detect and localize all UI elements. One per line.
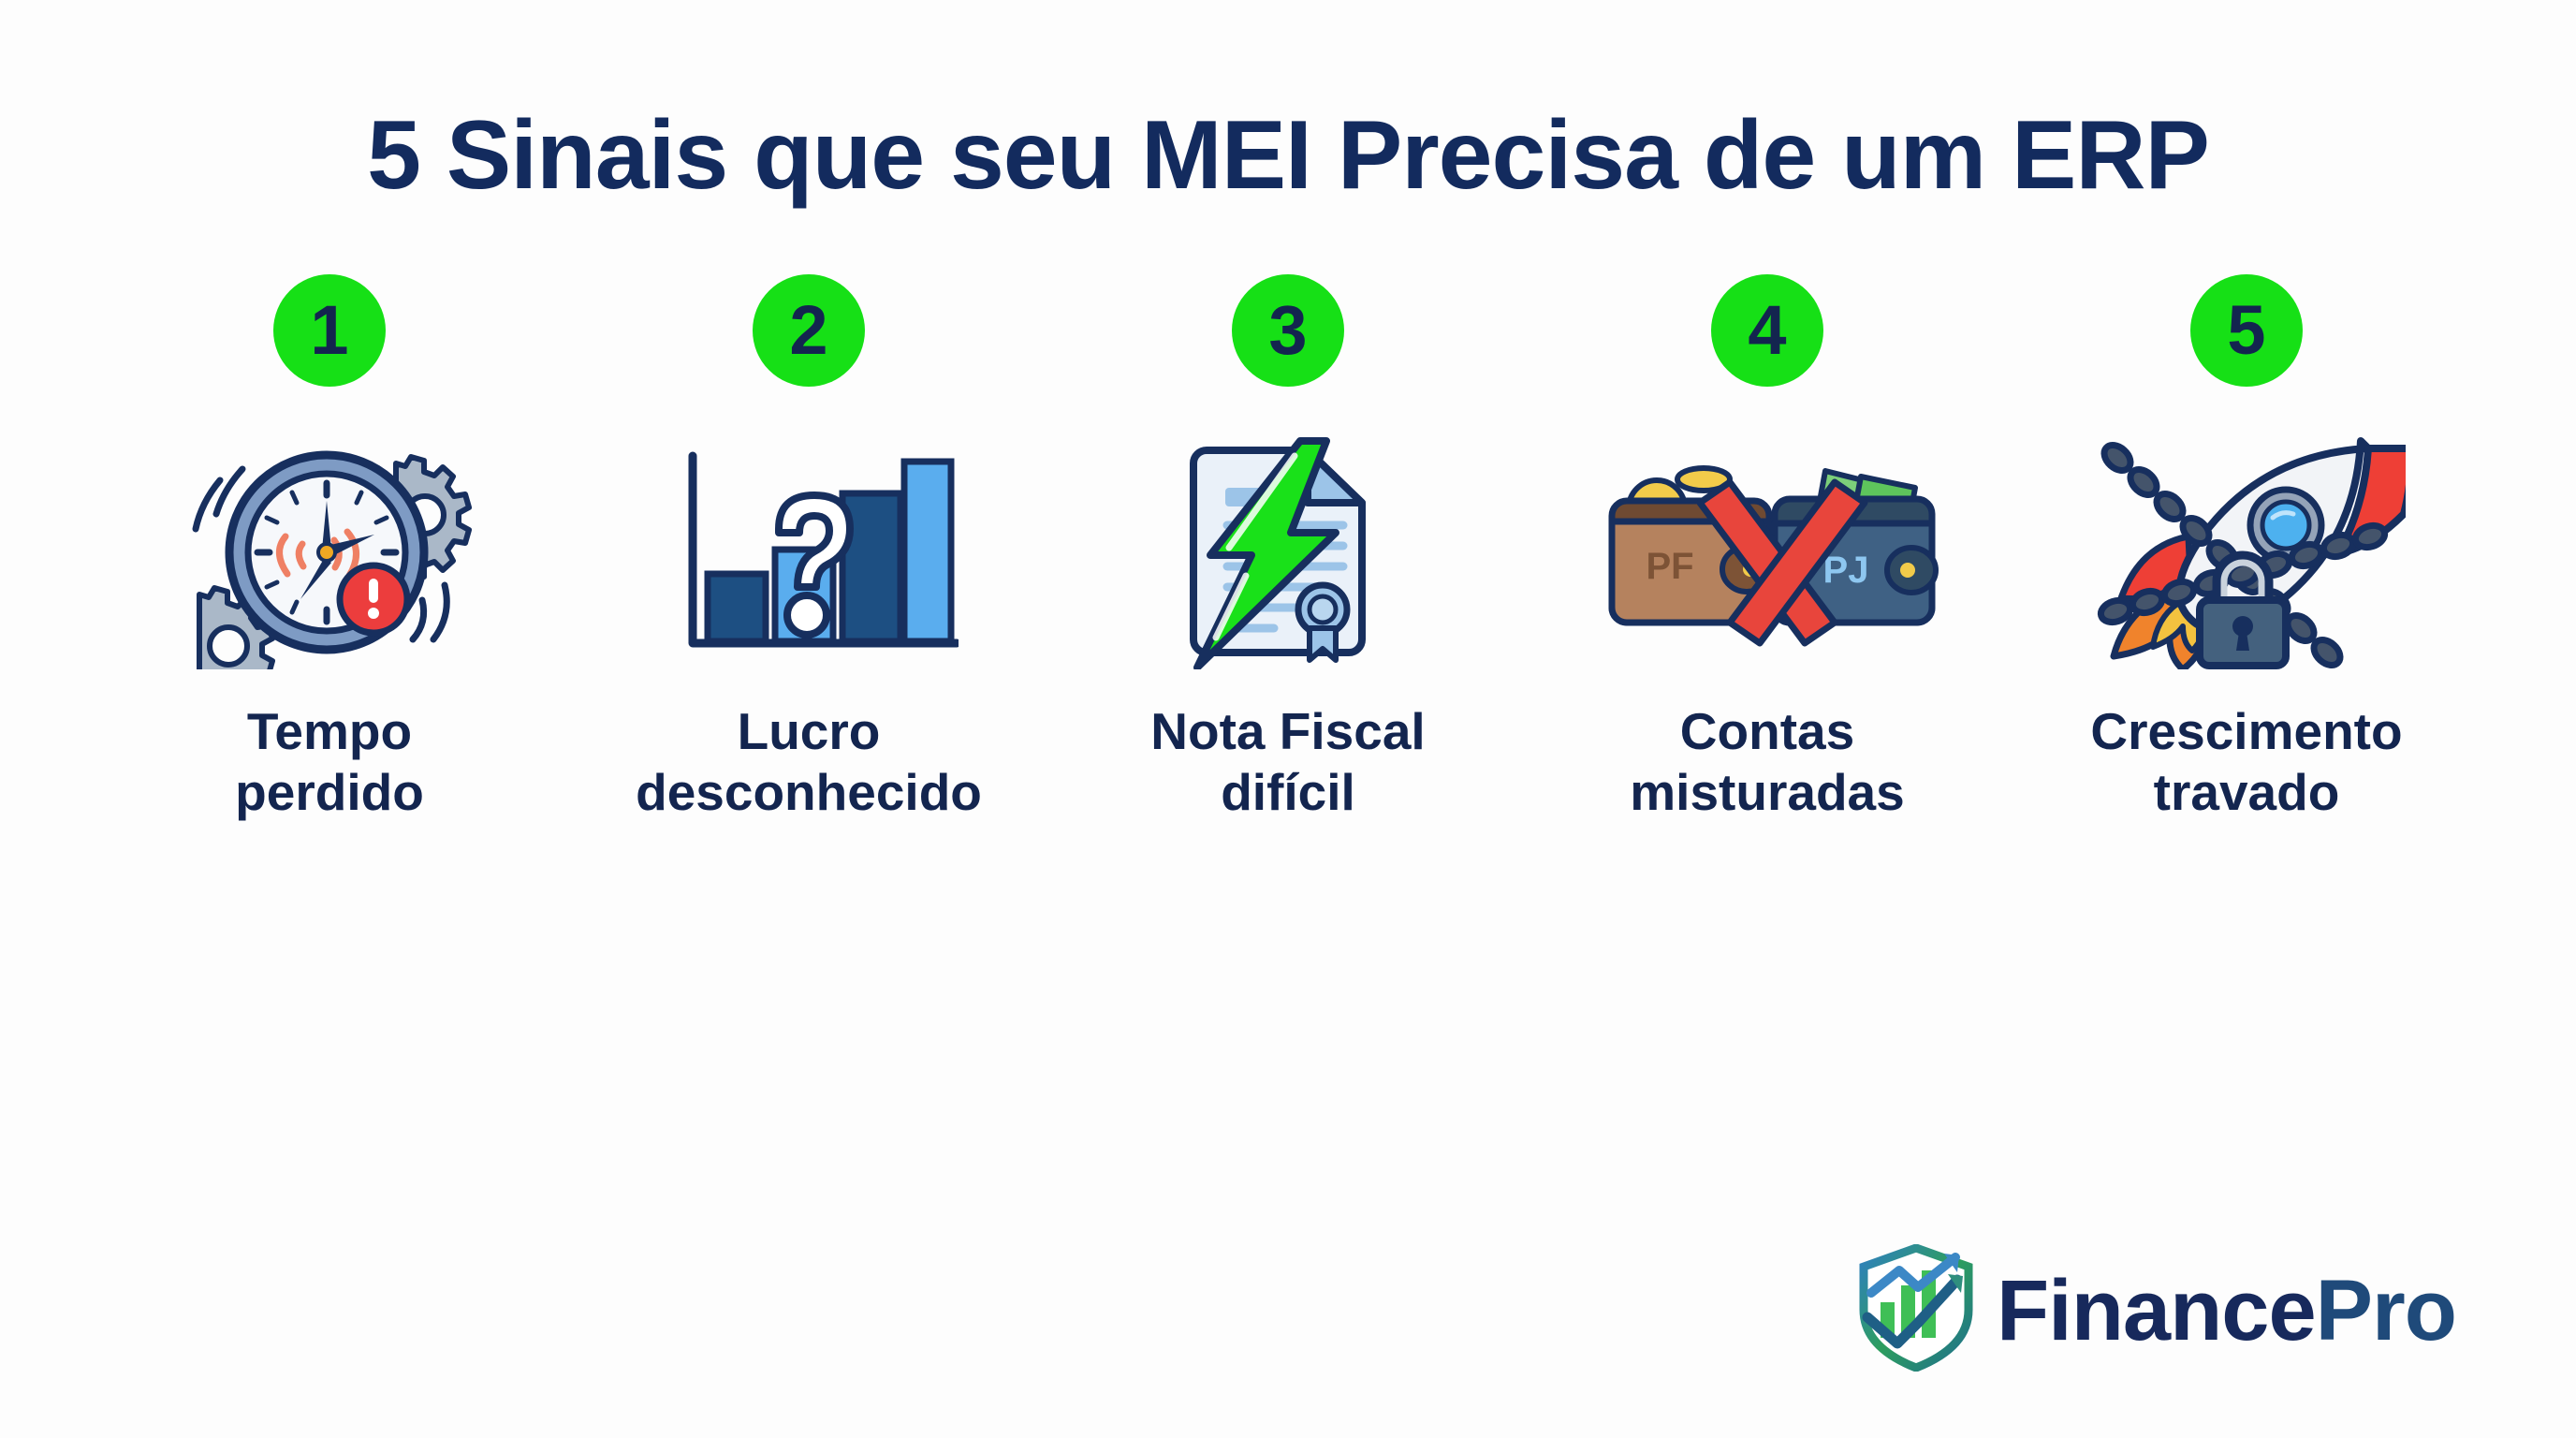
wallet-pf-label: PF [1646,546,1693,587]
step-number-badge: 4 [1711,274,1823,387]
step-item-3: 3 [1048,274,1528,823]
step-label: Lucro desconhecido [636,701,982,823]
step-label: Tempo perdido [235,701,424,823]
logo-text-primary: Finance [1997,1263,2316,1358]
step-number-badge: 2 [753,274,865,387]
step-label: Nota Fiscal difícil [1150,701,1425,823]
step-item-5: 5 [2007,274,2486,823]
step-item-1: 1 [90,274,569,823]
logo-text-secondary: Pro [2316,1263,2456,1358]
clock-gears-alert-icon [142,435,517,669]
step-item-4: 4 PF [1528,274,2007,823]
wallet-pj-label: PJ [1823,550,1869,591]
infographic-page: 5 Sinais que seu MEI Precisa de um ERP 1 [0,0,2576,1438]
step-number-badge: 5 [2190,274,2303,387]
bar-chart-question-mark-icon [622,435,996,669]
step-number-badge: 3 [1232,274,1344,387]
page-title: 5 Sinais que seu MEI Precisa de um ERP [367,105,2209,207]
logo-wordmark: FinancePro [1997,1268,2456,1354]
steps-grid: 1 [90,274,2486,823]
rocket-chained-padlock-icon [2059,435,2434,669]
step-label: Crescimento travado [2090,701,2402,823]
shield-growth-chart-icon [1856,1244,1976,1376]
invoice-document-lightning-icon [1101,435,1475,669]
step-number-badge: 1 [273,274,386,387]
step-item-2: 2 Lucro desconhecido [569,274,1048,823]
step-label: Contas misturadas [1630,701,1904,823]
brand-logo: FinancePro [1856,1244,2456,1376]
two-wallets-crossed-out-icon: PF PJ [1580,435,1954,669]
